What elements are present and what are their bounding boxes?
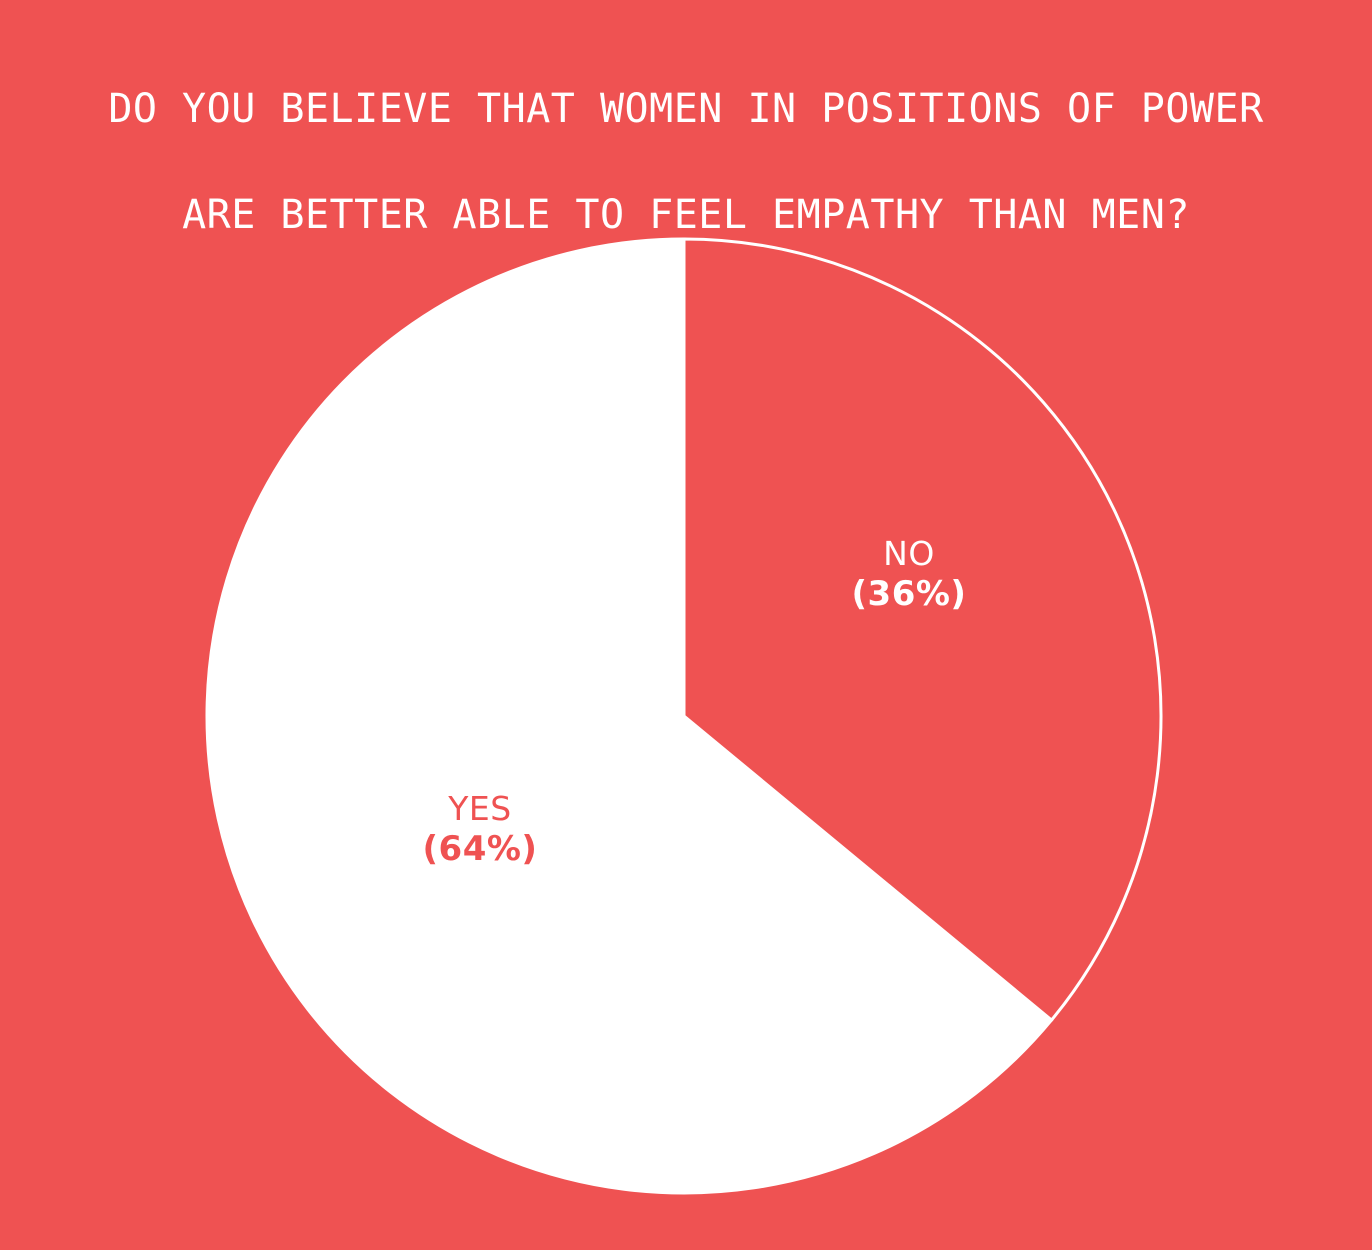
- pie-label-yes: YES (64%): [330, 789, 630, 869]
- pie-chart: [0, 0, 1372, 1250]
- pie-label-no: NO (36%): [759, 534, 1059, 614]
- chart-canvas: DO YOU BELIEVE THAT WOMEN IN POSITIONS O…: [0, 0, 1372, 1250]
- pie-chart-svg: [0, 0, 1372, 1250]
- pie-label-yes-name: YES: [330, 789, 630, 829]
- pie-label-yes-percent: (64%): [330, 829, 630, 869]
- pie-label-no-name: NO: [759, 534, 1059, 574]
- pie-label-no-percent: (36%): [759, 574, 1059, 614]
